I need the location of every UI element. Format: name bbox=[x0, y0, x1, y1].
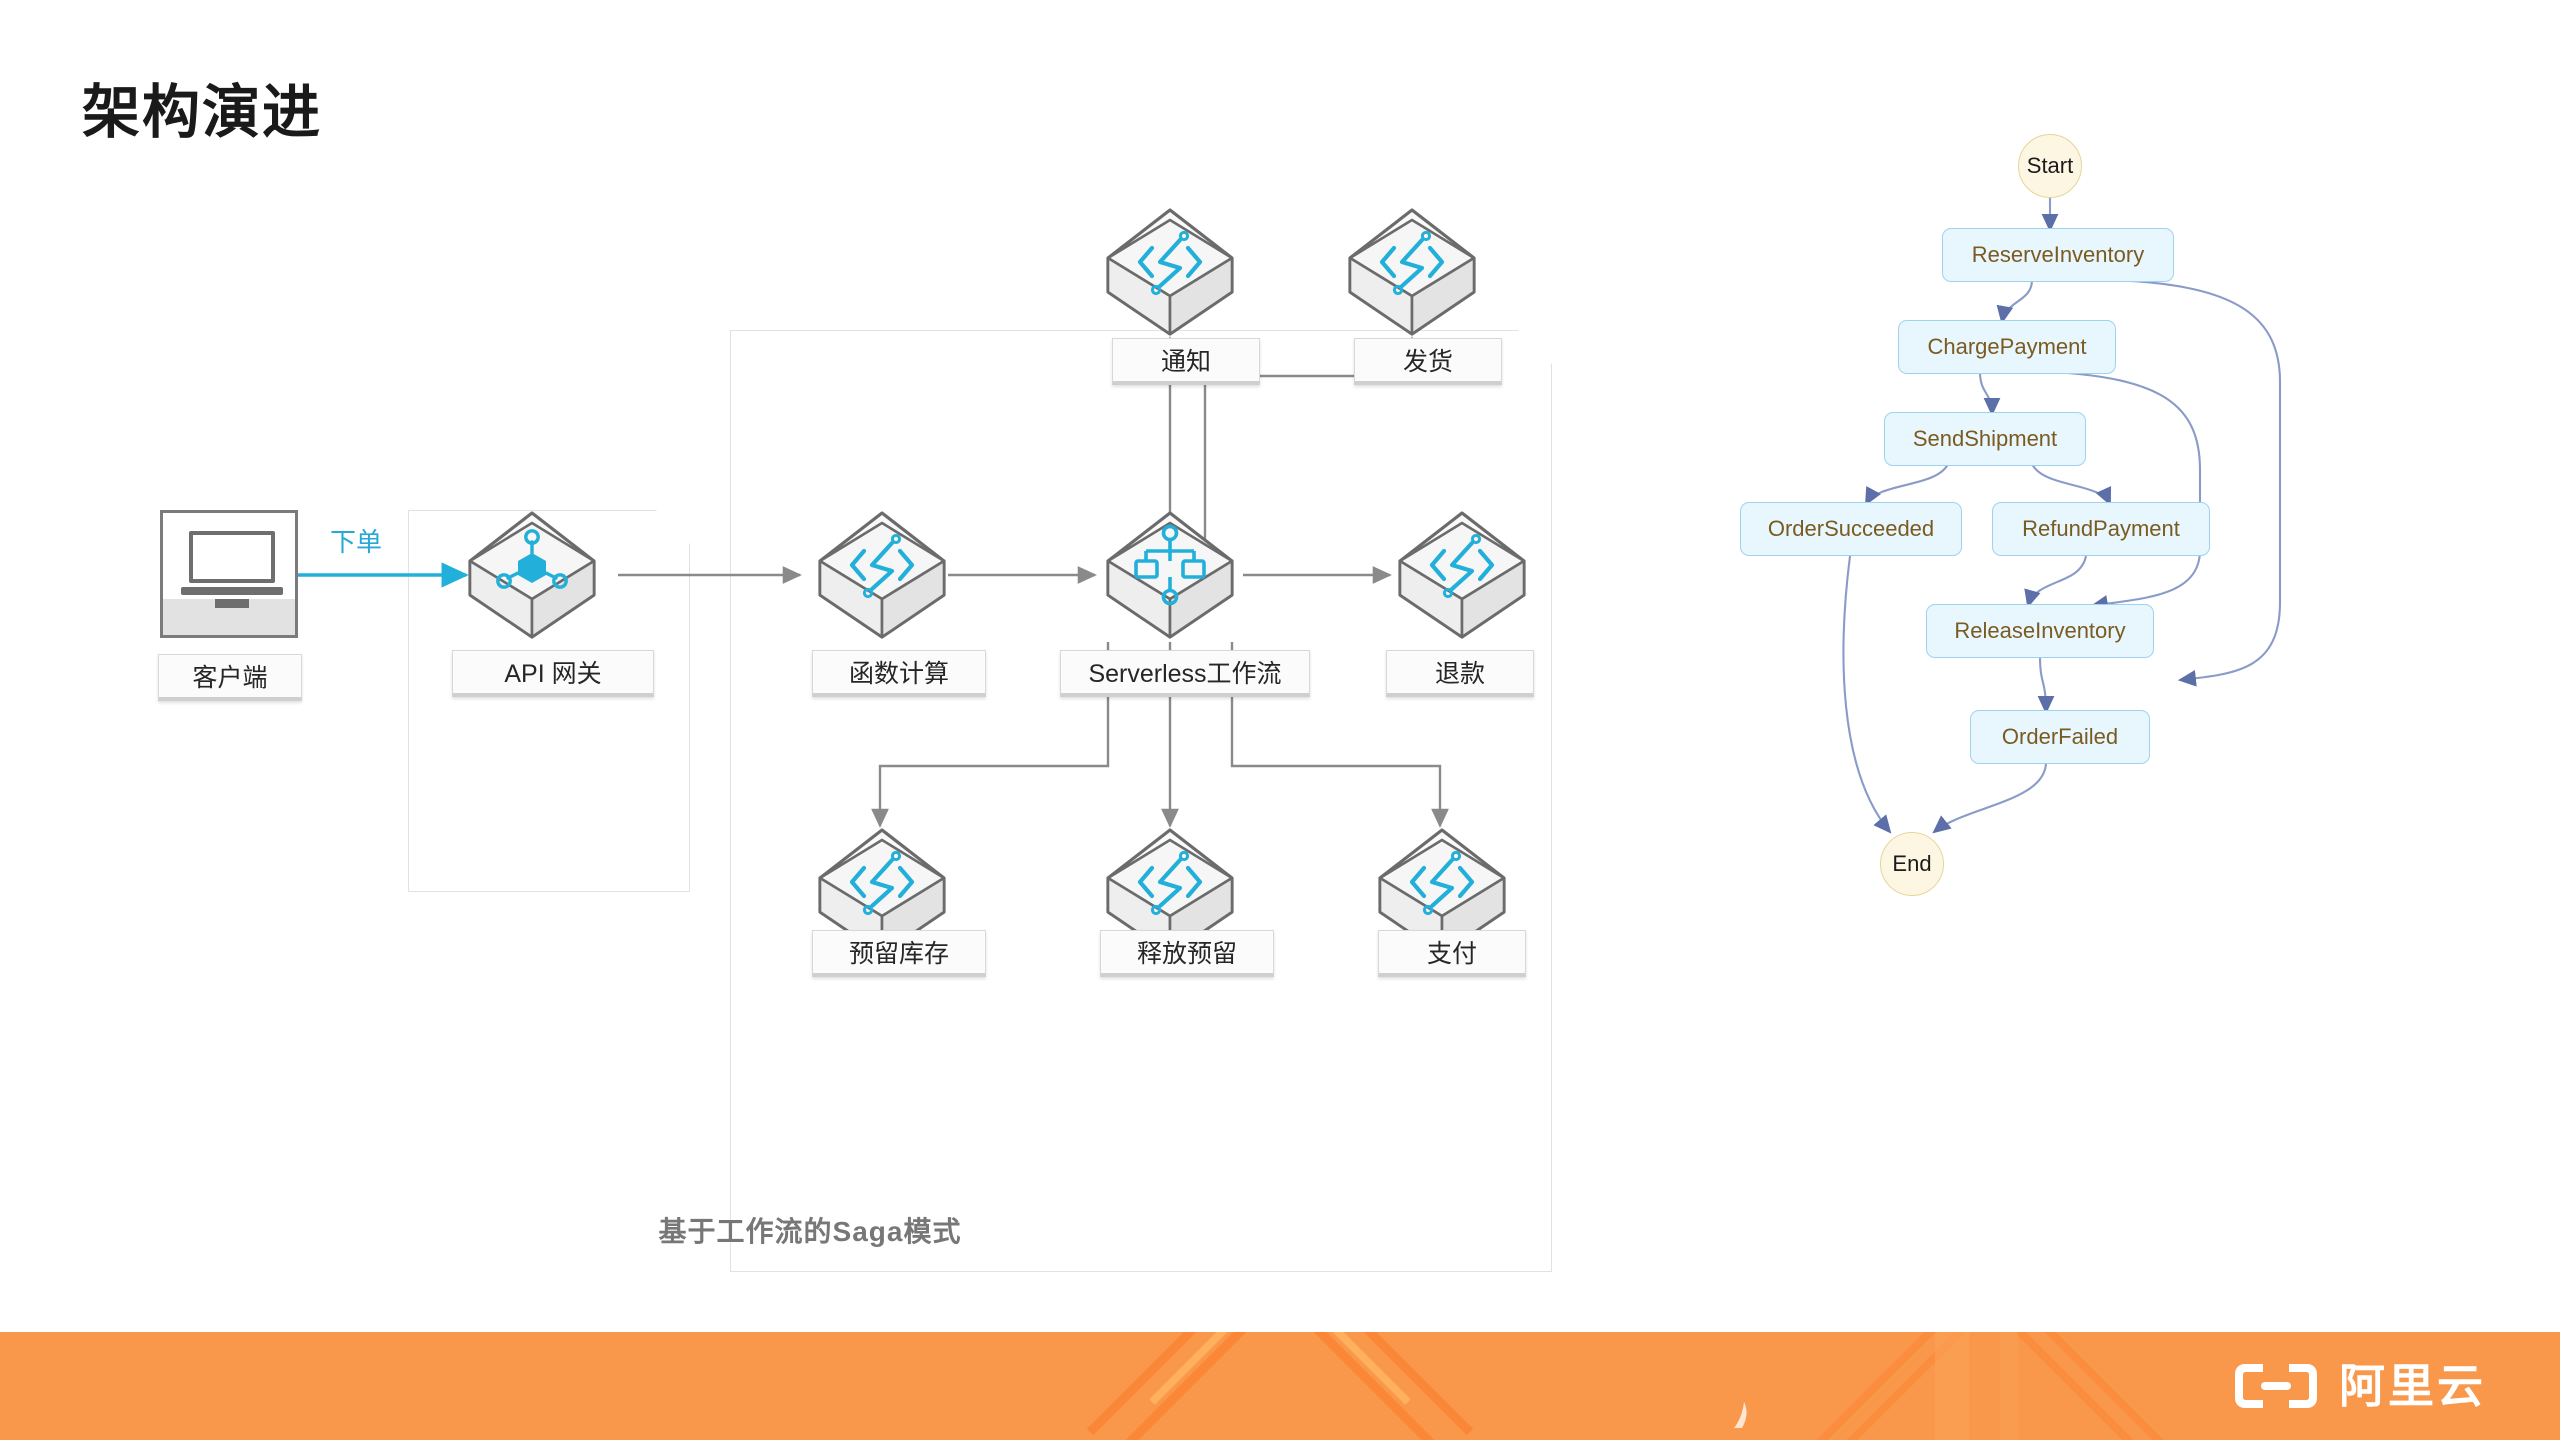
banner-chevron-pattern bbox=[0, 1332, 2560, 1440]
flow-node-release-inventory[interactable]: ReleaseInventory bbox=[1926, 604, 2154, 658]
aliyun-bracket-icon bbox=[2233, 1361, 2319, 1411]
function-compute-icon bbox=[1346, 206, 1478, 338]
flow-node-send-shipment[interactable]: SendShipment bbox=[1884, 412, 2086, 466]
flow-node-start[interactable]: Start bbox=[2018, 134, 2082, 198]
node-label-workflow: Serverless工作流 bbox=[1060, 650, 1310, 697]
node-label-refund: 退款 bbox=[1386, 650, 1534, 697]
aliyun-wordmark: 阿里云 bbox=[2339, 1363, 2486, 1409]
aliyun-logo: 阿里云 bbox=[2233, 1361, 2486, 1411]
slide-root: 架构演进 bbox=[0, 0, 2560, 1440]
node-label-notify: 通知 bbox=[1112, 338, 1260, 385]
node-label-reserve-inventory: 预留库存 bbox=[812, 930, 986, 977]
flow-node-end[interactable]: End bbox=[1880, 832, 1944, 896]
node-label-pay: 支付 bbox=[1378, 930, 1526, 977]
flow-label-place-order: 下单 bbox=[330, 522, 382, 559]
function-compute-icon bbox=[1396, 509, 1528, 641]
node-label-shipment: 发货 bbox=[1354, 338, 1502, 385]
flow-node-reserve-inventory[interactable]: ReserveInventory bbox=[1942, 228, 2174, 282]
function-compute-icon bbox=[1104, 206, 1236, 338]
flow-node-charge-payment[interactable]: ChargePayment bbox=[1898, 320, 2116, 374]
flow-node-refund-payment[interactable]: RefundPayment bbox=[1992, 502, 2210, 556]
diagram-caption: 基于工作流的Saga模式 bbox=[0, 1210, 1620, 1250]
serverless-container bbox=[730, 330, 1552, 1272]
flow-node-order-failed[interactable]: OrderFailed bbox=[1970, 710, 2150, 764]
flowchart-edges bbox=[1640, 150, 2540, 1250]
flow-node-order-succeeded[interactable]: OrderSucceeded bbox=[1740, 502, 1962, 556]
monitor-icon bbox=[160, 510, 298, 638]
saga-flowchart: Start ReserveInventory ChargePayment Sen… bbox=[1640, 150, 2540, 1250]
node-label-gateway: API 网关 bbox=[452, 650, 654, 697]
serverless-workflow-icon bbox=[1104, 509, 1236, 641]
architecture-diagram: 下单 客户端 bbox=[0, 150, 1620, 1300]
node-label-release-reserve: 释放预留 bbox=[1100, 930, 1274, 977]
node-label-client: 客户端 bbox=[158, 654, 302, 701]
footer-banner: 阿里云 bbox=[0, 1332, 2560, 1440]
api-gateway-cube-icon bbox=[466, 509, 598, 641]
node-label-function-compute: 函数计算 bbox=[812, 650, 986, 697]
function-compute-icon bbox=[816, 509, 948, 641]
page-title: 架构演进 bbox=[82, 84, 322, 142]
